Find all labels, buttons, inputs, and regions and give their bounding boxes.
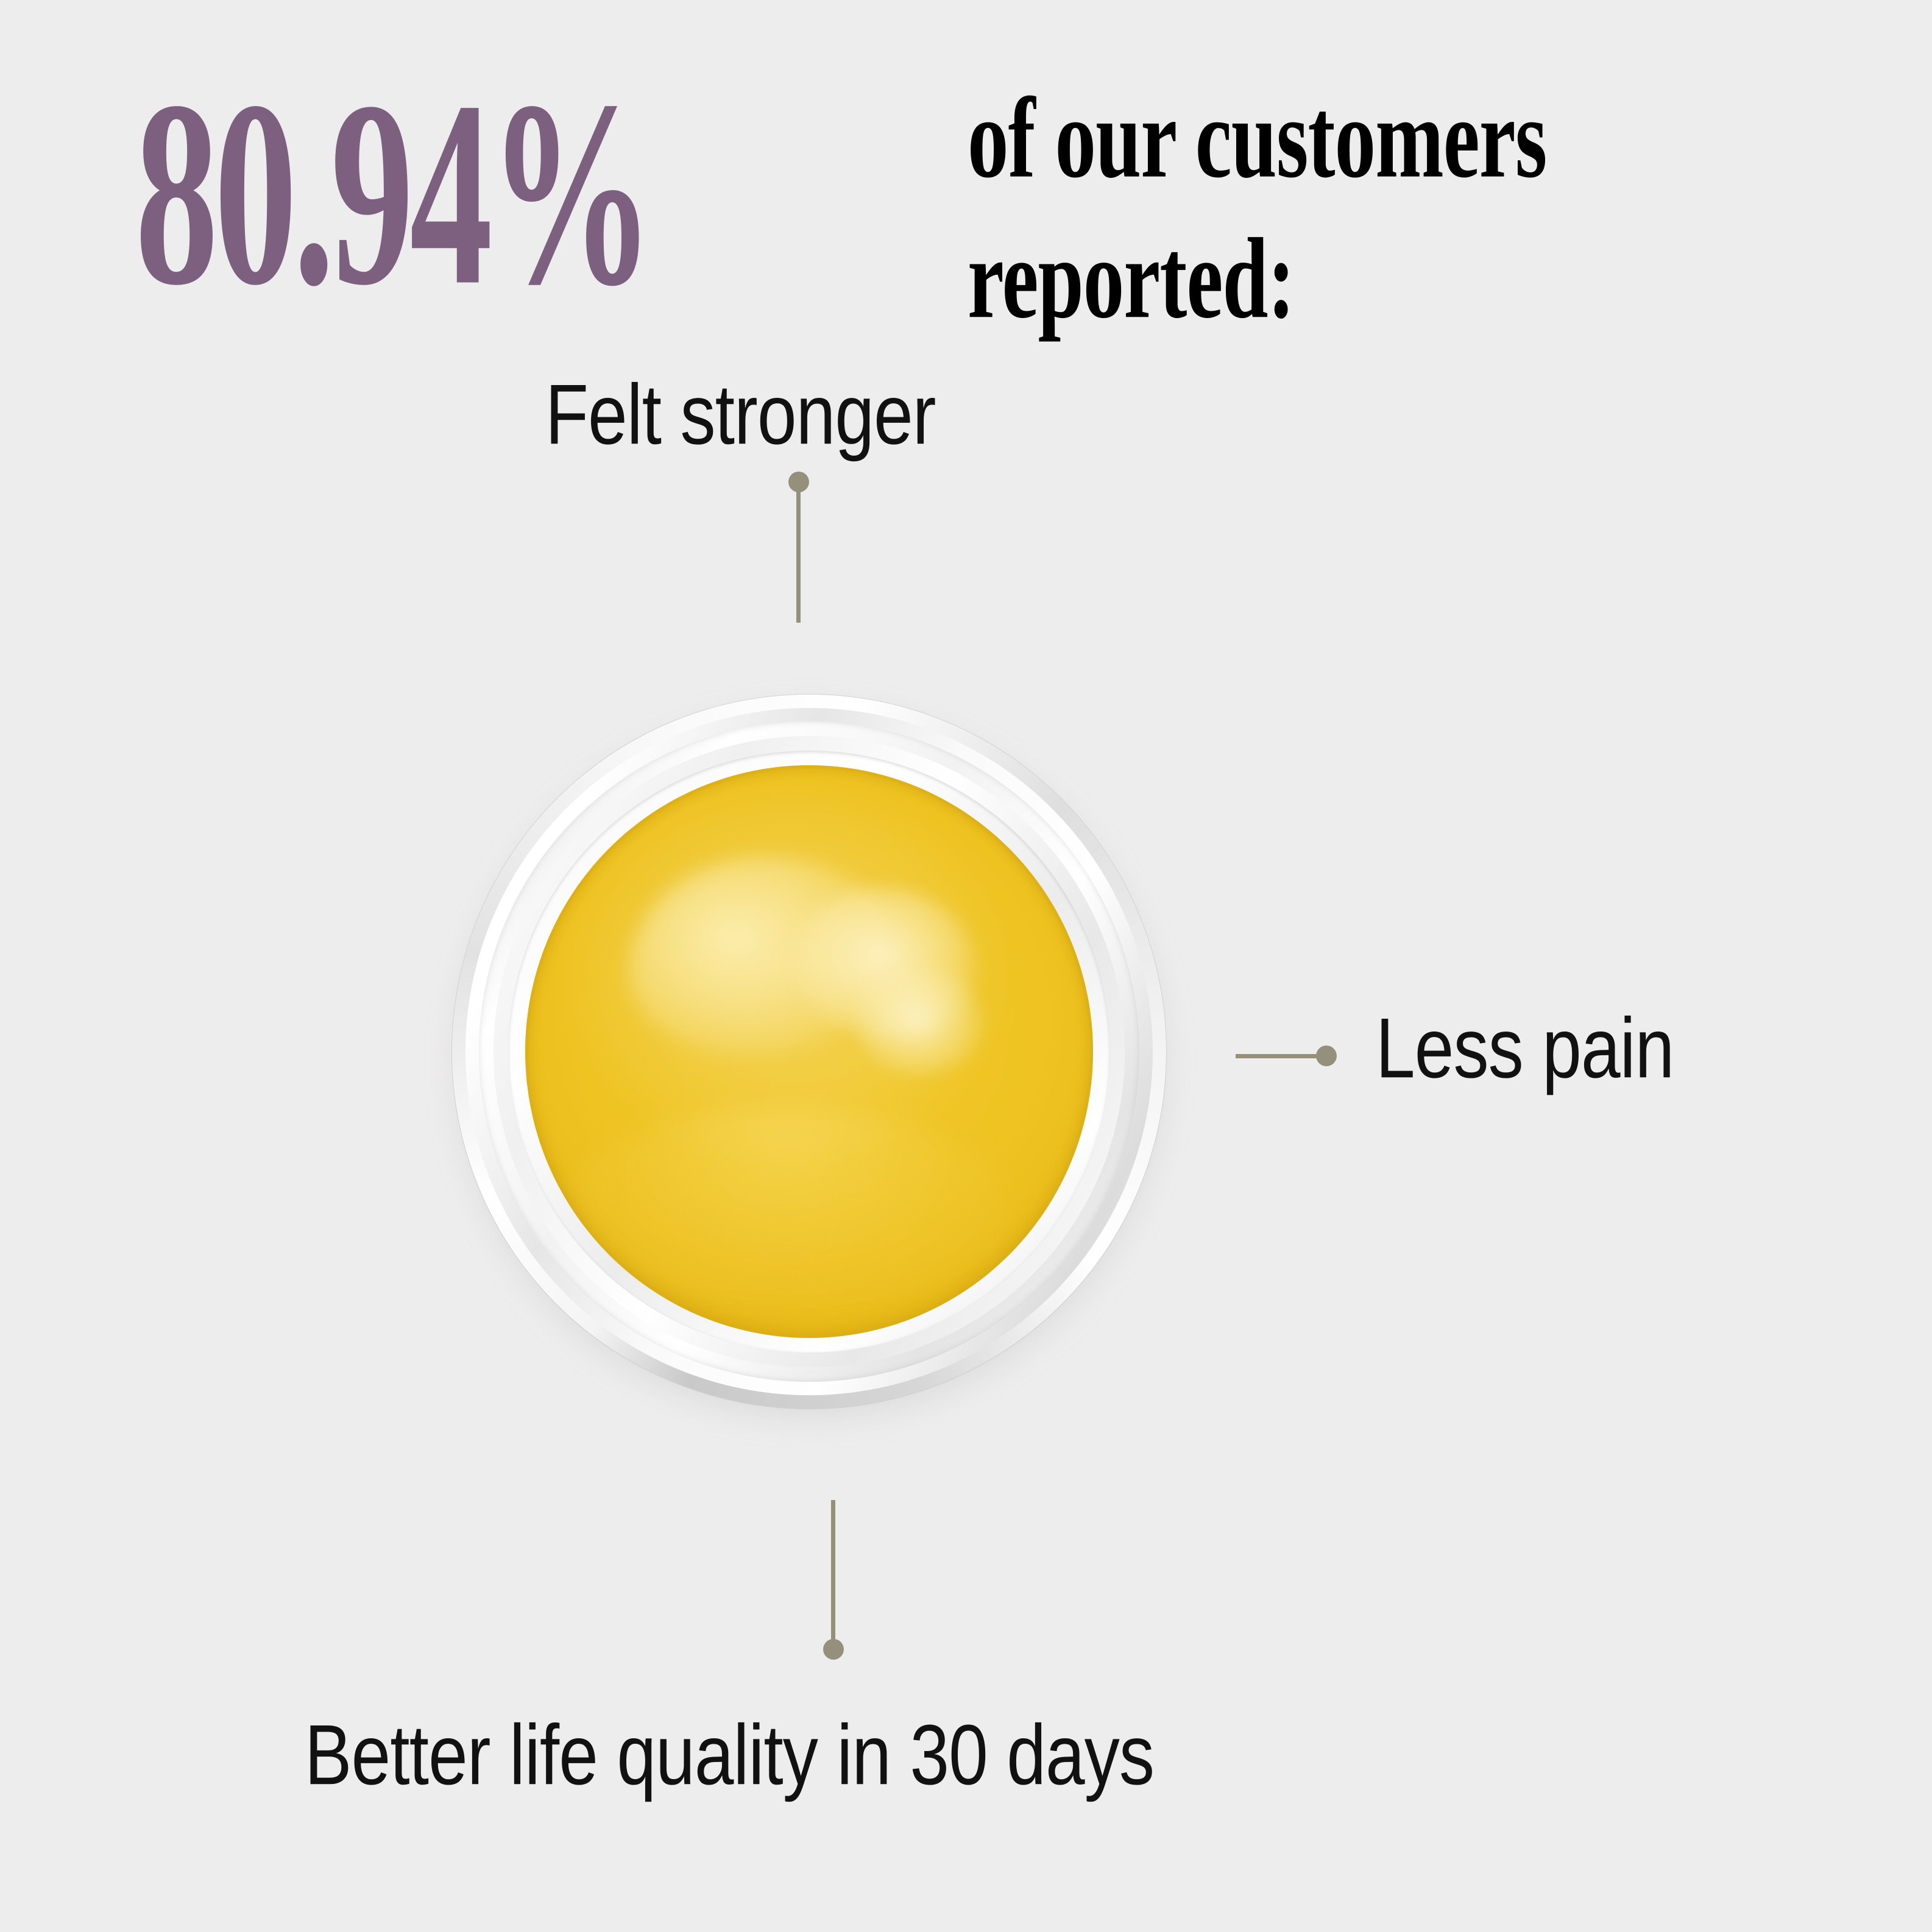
headline-line-2: reported: — [968, 209, 1768, 350]
callout-label-felt-stronger: Felt stronger — [545, 366, 936, 463]
leader-line-better-life — [831, 1500, 835, 1644]
balm-surface — [525, 765, 1093, 1338]
leader-dot-felt-stronger — [788, 472, 809, 492]
balm-edge-shading — [525, 765, 1093, 1338]
product-tin-image — [452, 695, 1166, 1409]
leader-dot-less-pain — [1316, 1046, 1337, 1066]
callout-label-better-life: Better life quality in 30 days — [305, 1706, 1154, 1803]
headline-text: of our customers reported: — [968, 68, 1768, 349]
headline-block: 80.94% of our customers reported: — [0, 0, 1932, 317]
infographic-canvas: 80.94% of our customers reported: Felt s… — [0, 0, 1932, 1932]
leader-line-less-pain — [1236, 1054, 1321, 1058]
leader-dot-better-life — [823, 1639, 844, 1660]
headline-line-1: of our customers — [968, 68, 1768, 209]
callout-label-less-pain: Less pain — [1376, 999, 1674, 1097]
stat-percentage: 80.94% — [135, 61, 651, 326]
leader-line-felt-stronger — [796, 491, 801, 623]
